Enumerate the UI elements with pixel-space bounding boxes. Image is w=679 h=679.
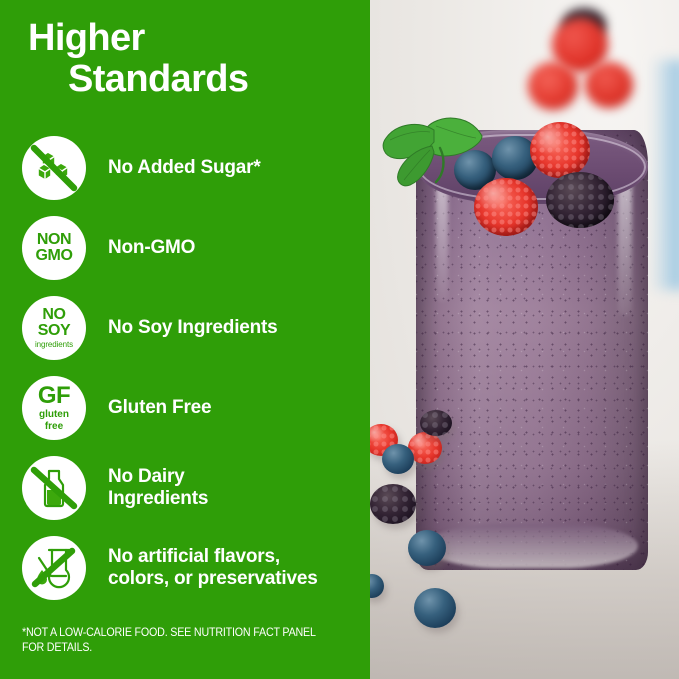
- gluten-free-badge-line-2: free: [38, 422, 70, 433]
- claim-row-no-artificial: No artificial flavors, colors, or preser…: [0, 528, 370, 608]
- claim-row-non-gmo: NON GMO Non-GMO: [0, 208, 370, 288]
- claim-text-line-1: No Soy Ingredients: [108, 317, 278, 338]
- scattered-blueberry: [382, 444, 414, 474]
- raspberry-topping: [474, 178, 538, 236]
- gluten-free-icon: GF gluten free: [22, 376, 86, 440]
- no-soy-icon: NO SOY ingredients: [22, 296, 86, 360]
- claim-row-no-soy: NO SOY ingredients No Soy Ingredients: [0, 288, 370, 368]
- scattered-blackberry: [420, 410, 452, 436]
- blackberry-topping: [546, 172, 614, 228]
- claim-row-gluten-free: GF gluten free Gluten Free: [0, 368, 370, 448]
- scattered-blueberry: [408, 530, 446, 566]
- headline-line-1: Higher: [28, 17, 145, 59]
- footnote-disclaimer: *NOT A LOW-CALORIE FOOD. SEE NUTRITION F…: [22, 626, 320, 657]
- claim-text-line-1: No artificial flavors,: [108, 546, 280, 567]
- claim-label-no-soy: No Soy Ingredients: [108, 317, 278, 339]
- claim-text-line-1: Non-GMO: [108, 237, 195, 258]
- claim-text-line-2: Ingredients: [108, 488, 208, 510]
- no-soy-badge-subtext: ingredients: [35, 341, 73, 349]
- page-title: Higher Standards: [28, 18, 358, 100]
- product-photo: [370, 0, 679, 679]
- claim-text-line-1: Gluten Free: [108, 397, 211, 418]
- claim-text-line-1: No Added Sugar*: [108, 157, 261, 178]
- blue-background-accent: [651, 60, 679, 290]
- claim-row-no-dairy: No Dairy Ingredients: [0, 448, 370, 528]
- headline-line-2: Standards: [28, 59, 358, 100]
- non-gmo-badge-line-2: GMO: [35, 248, 72, 264]
- non-gmo-icon: NON GMO: [22, 216, 86, 280]
- footnote-line-2: FOR DETAILS.: [22, 642, 92, 654]
- non-gmo-badge-line-1: NON: [35, 232, 72, 248]
- scattered-blueberry: [414, 588, 456, 628]
- claim-text-line-2: colors, or preservatives: [108, 568, 318, 590]
- glass-base: [426, 524, 638, 568]
- no-soy-badge-line-1: NO: [35, 307, 73, 323]
- claim-row-no-added-sugar: No Added Sugar*: [0, 128, 370, 208]
- raspberry-topping: [530, 122, 590, 178]
- scattered-blackberry: [370, 484, 416, 524]
- claim-label-gluten-free: Gluten Free: [108, 397, 211, 419]
- background-raspberry: [528, 62, 578, 110]
- product-claims-graphic: Higher Standards: [0, 0, 679, 679]
- no-soy-badge-line-2: SOY: [35, 323, 73, 339]
- gluten-free-badge-initials: GF: [38, 384, 70, 408]
- footnote-line-1: *NOT A LOW-CALORIE FOOD. SEE NUTRITION F…: [22, 627, 316, 639]
- no-artificial-flask-icon: [22, 536, 86, 600]
- gluten-free-badge-line-1: gluten: [38, 410, 70, 421]
- no-dairy-bottle-icon: [22, 456, 86, 520]
- claim-label-non-gmo: Non-GMO: [108, 237, 195, 259]
- claim-label-no-dairy: No Dairy Ingredients: [108, 466, 208, 511]
- claims-panel: Higher Standards: [0, 0, 370, 679]
- claim-text-line-1: No Dairy: [108, 466, 185, 487]
- claim-label-no-artificial: No artificial flavors, colors, or preser…: [108, 546, 318, 591]
- background-raspberry: [585, 62, 633, 108]
- claims-list: No Added Sugar* NON GMO Non-GMO: [0, 128, 370, 608]
- claim-label-no-added-sugar: No Added Sugar*: [108, 157, 261, 179]
- no-sugar-cubes-icon: [22, 136, 86, 200]
